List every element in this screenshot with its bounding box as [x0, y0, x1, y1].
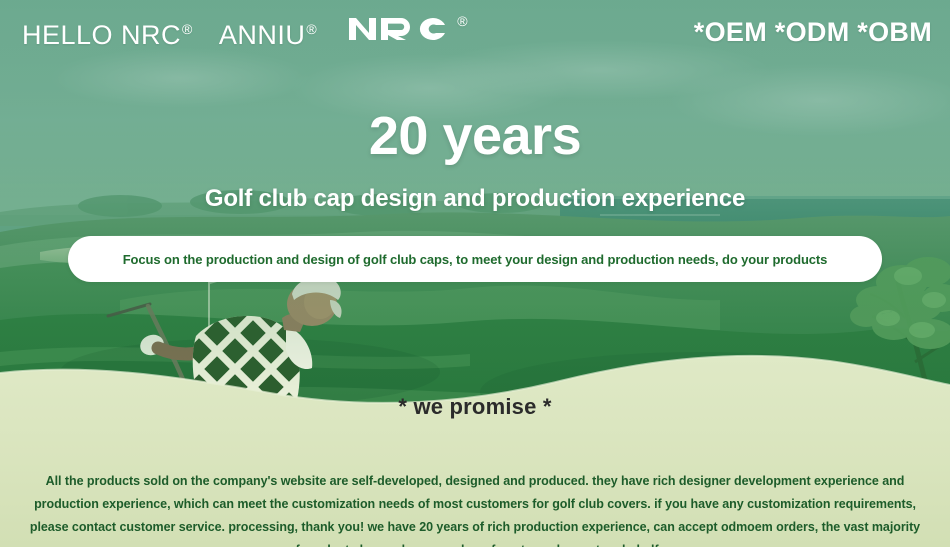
hero-subtitle: Golf club cap design and production expe… — [0, 185, 950, 213]
registered-mark-icon: ® — [457, 13, 468, 29]
banner-header: HELLO NRC® ANNIU® ® *OEM *ODM — [0, 0, 950, 64]
services-label: *OEM *ODM *OBM — [694, 17, 932, 48]
brand-hello-nrc: HELLO NRC® — [22, 20, 193, 51]
golf-cap-promotional-banner: HELLO NRC® ANNIU® ® *OEM *ODM — [0, 0, 950, 547]
brand-anniu: ANNIU® — [219, 20, 317, 51]
brand-anniu-label: ANNIU — [219, 20, 306, 50]
registered-mark-icon: ® — [182, 21, 193, 37]
hero-text-block: 20 years Golf club cap design and produc… — [0, 108, 950, 213]
hero-title: 20 years — [0, 108, 950, 165]
promise-paragraph: All the products sold on the company's w… — [0, 470, 950, 547]
promise-heading: * we promise * — [0, 394, 950, 420]
brand-hello-nrc-label: HELLO NRC — [22, 20, 181, 50]
registered-mark-icon: ® — [306, 21, 317, 37]
focus-statement-text: Focus on the production and design of go… — [123, 252, 828, 267]
nrc-wordmark-icon — [347, 14, 453, 44]
focus-statement-pill[interactable]: Focus on the production and design of go… — [68, 236, 882, 282]
brand-nrc-logo: ® — [347, 14, 468, 44]
brand-list: HELLO NRC® ANNIU® ® — [22, 14, 468, 51]
